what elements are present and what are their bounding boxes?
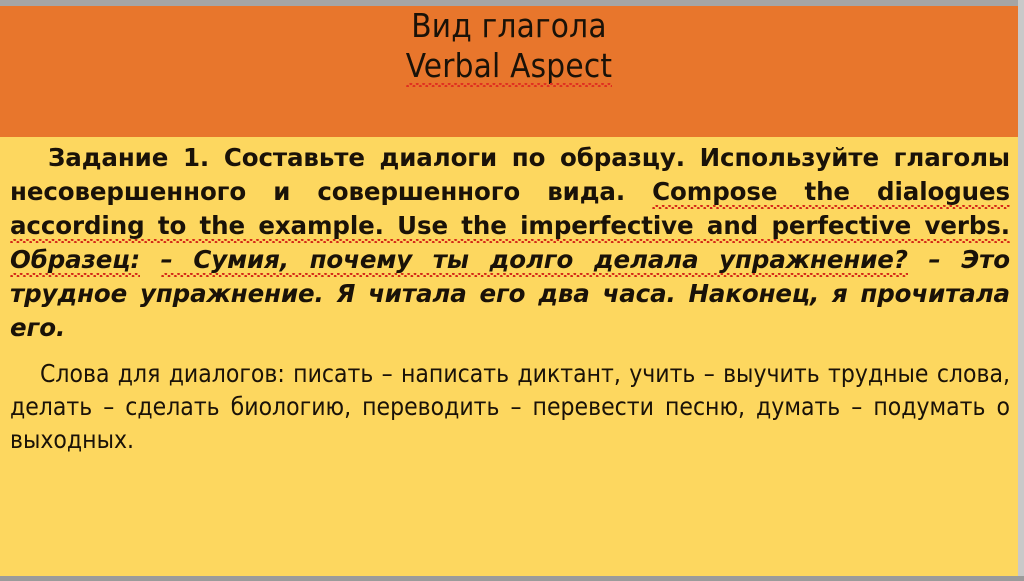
example-label: Образец: xyxy=(10,245,140,278)
slide-title-russian: Вид глагола xyxy=(0,6,1018,46)
slide-title-block: Вид глагола Verbal Aspect xyxy=(0,6,1018,86)
slide: Вид глагола Verbal Aspect Задание 1. Сос… xyxy=(0,0,1024,581)
task-paragraph: Задание 1. Составьте диалоги по образцу.… xyxy=(10,141,1010,345)
bottom-grey-band xyxy=(0,576,1024,581)
task-label: Задание 1. xyxy=(48,143,209,172)
slide-title-english-wrapper: Verbal Aspect xyxy=(0,46,1018,86)
right-grey-band xyxy=(1018,0,1024,581)
slide-title-english: Verbal Aspect xyxy=(406,46,612,86)
word-list-lead-in: Слова для диалогов: xyxy=(40,359,285,388)
slide-body: Задание 1. Составьте диалоги по образцу.… xyxy=(0,137,1018,576)
example-dialogue-line-1: – Сумия, почему ты долго делала упражнен… xyxy=(161,245,908,278)
word-list-paragraph: Слова для диалогов: писать – написать ди… xyxy=(10,357,1010,456)
